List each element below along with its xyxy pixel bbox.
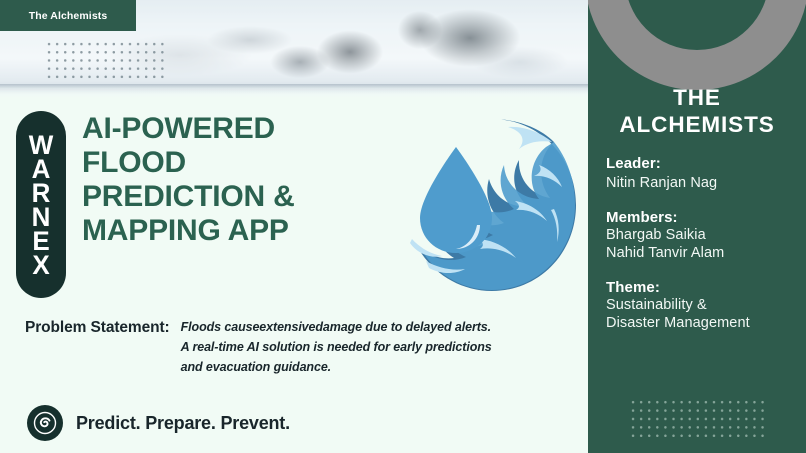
members-block: Members: Bhargab Saikia Nahid Tanvir Ala…: [606, 209, 794, 263]
member-value-1: Bhargab Saikia: [606, 227, 794, 245]
problem-statement: Problem Statement: Floods causeextensive…: [25, 318, 570, 377]
water-droplet-wave-icon: [404, 113, 580, 296]
university-arc-text: Gauhati University: [588, 0, 806, 90]
panel-title-line-1: THE: [673, 85, 721, 110]
panel-fields: Leader: Nitin Ranjan Nag Members: Bharga…: [606, 155, 794, 333]
project-title-line-4: MAPPING APP: [82, 214, 412, 248]
leader-block: Leader: Nitin Ranjan Nag: [606, 155, 794, 193]
warnex-letter-stack: W A R N E X: [29, 133, 54, 277]
panel-title: THE ALCHEMISTS: [588, 84, 806, 139]
panel-title-line-2: ALCHEMISTS: [619, 112, 774, 137]
theme-label: Theme:: [606, 279, 794, 298]
project-title: AI-POWERED FLOOD PREDICTION & MAPPING AP…: [82, 112, 412, 248]
project-title-line-1: AI-POWERED: [82, 112, 412, 146]
team-ribbon-label: The Alchemists: [29, 10, 108, 22]
warnex-brand-badge: W A R N E X: [16, 111, 66, 298]
members-label: Members:: [606, 209, 794, 228]
banner-fade-overlay: [0, 85, 588, 101]
warnex-spiral-logo: [27, 405, 63, 441]
team-ribbon: The Alchemists: [0, 0, 136, 31]
poster-canvas: The Alchemists Gauhati University THE AL…: [0, 0, 806, 453]
tagline: Predict. Prepare. Prevent.: [27, 405, 290, 441]
project-title-line-3: PREDICTION &: [82, 180, 412, 214]
theme-value-2: Disaster Management: [606, 315, 794, 333]
warnex-letter-6: X: [32, 251, 49, 278]
dot-grid-bottom-decoration: [629, 398, 769, 440]
theme-block: Theme: Sustainability & Disaster Managem…: [606, 279, 794, 333]
dot-grid-top-decoration: [45, 40, 167, 81]
project-title-line-2: FLOOD: [82, 146, 412, 180]
leader-label: Leader:: [606, 155, 794, 174]
member-value-2: Nahid Tanvir Alam: [606, 245, 794, 263]
team-info-panel: Gauhati University THE ALCHEMISTS Leader…: [588, 0, 806, 453]
problem-statement-text: Floods causeextensivedamage due to delay…: [181, 318, 499, 377]
leader-value: Nitin Ranjan Nag: [606, 174, 794, 193]
theme-value-1: Sustainability &: [606, 297, 794, 315]
problem-statement-label: Problem Statement:: [25, 318, 170, 337]
tagline-text: Predict. Prepare. Prevent.: [76, 413, 290, 434]
spiral-icon: [33, 411, 57, 435]
